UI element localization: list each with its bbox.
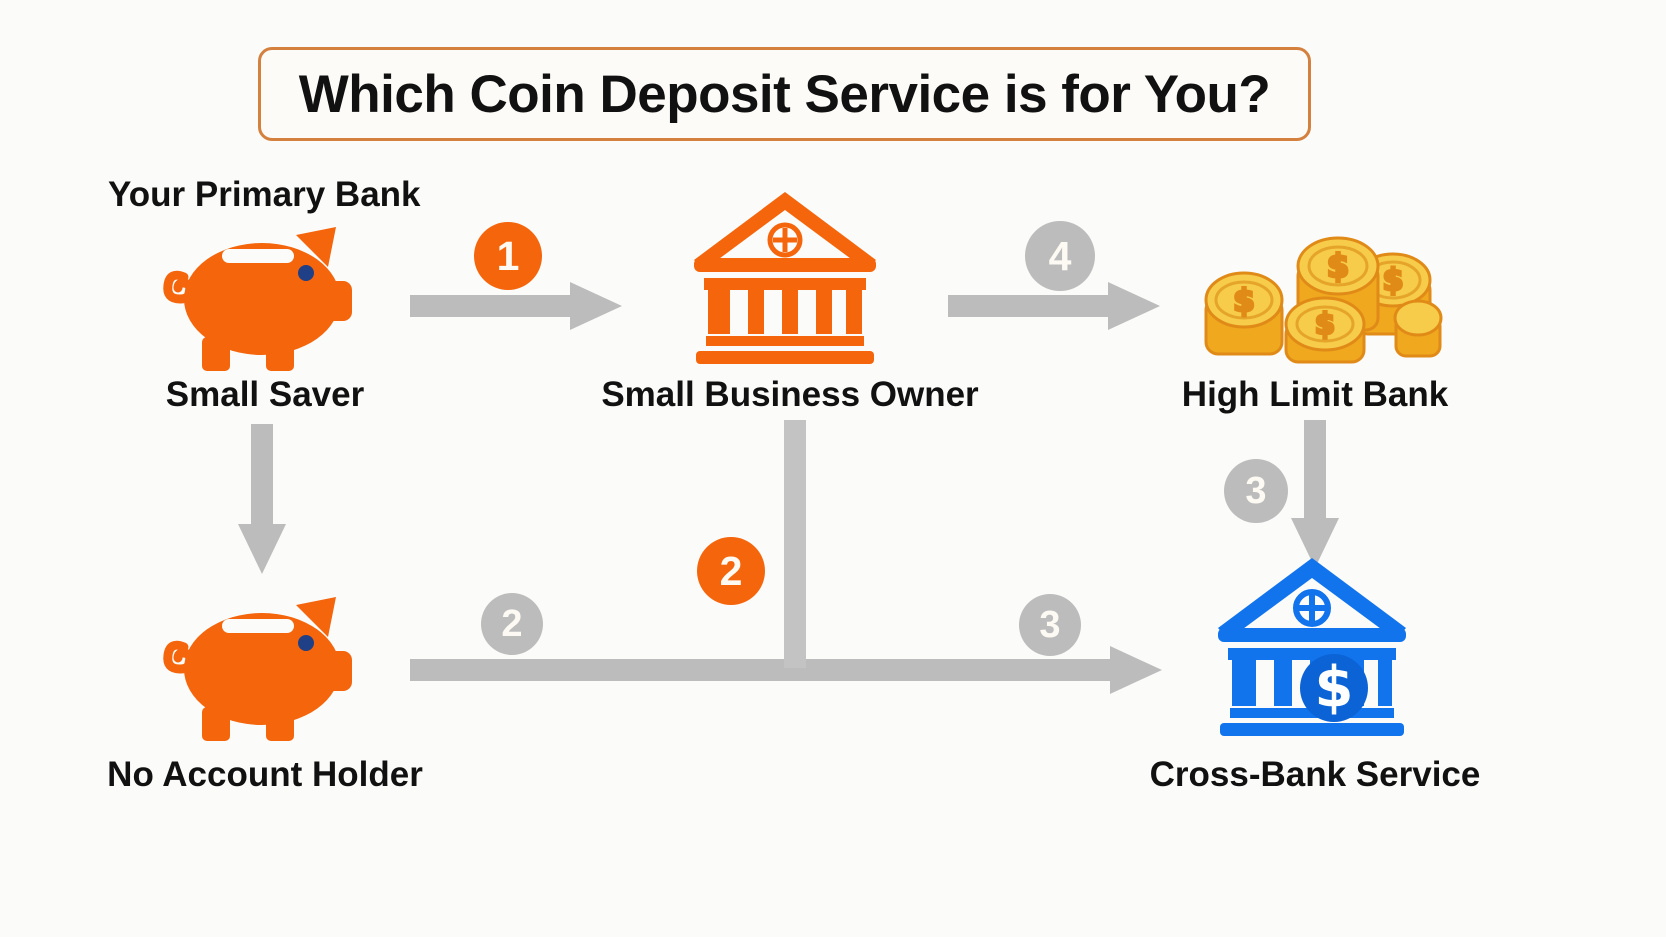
label-small-business-owner: Small Business Owner <box>600 375 980 415</box>
label-no-account-holder: No Account Holder <box>90 755 440 795</box>
piggy-bank-icon <box>158 225 363 375</box>
piggy-bank-icon <box>158 595 363 745</box>
page-title: Which Coin Deposit Service is for You? <box>299 64 1270 125</box>
badge-step-2-gray: 2 <box>481 593 543 655</box>
arrow-saver-to-noaccount <box>232 424 292 574</box>
infographic-canvas: Which Coin Deposit Service is for You? Y… <box>0 0 1666 937</box>
bank-blue-dollar-icon: $ <box>1212 552 1412 740</box>
label-cross-bank-service: Cross-Bank Service <box>1140 755 1490 795</box>
svg-text:$: $ <box>1233 283 1255 319</box>
badge-step-2-orange: 2 <box>697 537 765 605</box>
title-box: Which Coin Deposit Service is for You? <box>258 47 1311 141</box>
svg-text:$: $ <box>1315 655 1354 720</box>
label-high-limit-bank: High Limit Bank <box>1140 375 1490 415</box>
connector-business-to-rail <box>780 420 810 670</box>
coin-stack-icon: $ $ $ $ <box>1188 218 1443 368</box>
label-small-saver: Small Saver <box>90 375 440 415</box>
arrow-highlimit-to-crossbank <box>1285 420 1345 570</box>
badge-step-1: 1 <box>474 222 542 290</box>
bank-orange-icon <box>690 188 880 366</box>
badge-step-3-lower: 3 <box>1019 594 1081 656</box>
badge-step-3-upper: 3 <box>1224 459 1288 523</box>
svg-text:$: $ <box>1327 247 1349 285</box>
label-your-primary-bank: Your Primary Bank <box>108 175 421 215</box>
badge-step-4: 4 <box>1025 221 1095 291</box>
svg-text:$: $ <box>1383 263 1404 298</box>
svg-text:$: $ <box>1315 307 1335 341</box>
